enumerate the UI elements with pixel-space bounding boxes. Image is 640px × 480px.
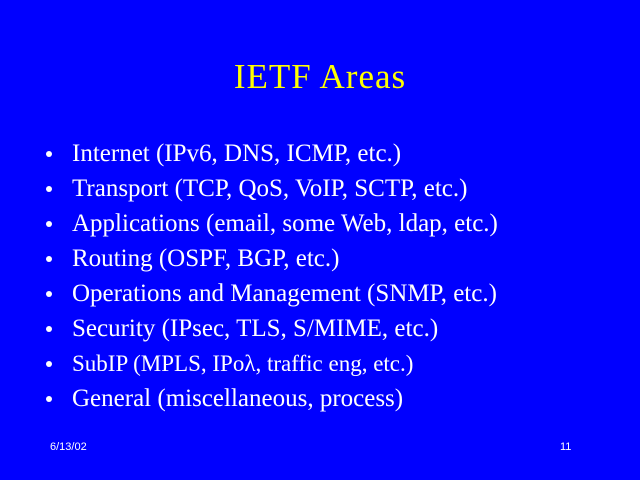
bullet-dot-icon [46,396,52,402]
list-item: Security (IPsec, TLS, S/MIME, etc.) [40,311,620,346]
slide: IETF Areas Internet (IPv6, DNS, ICMP, et… [0,0,640,480]
bullet-dot-icon [46,186,52,192]
bullet-dot-icon [46,291,52,297]
list-item: Applications (email, some Web, ldap, etc… [40,206,620,241]
bullet-list: Internet (IPv6, DNS, ICMP, etc.) Transpo… [40,136,620,416]
list-item: Routing (OSPF, BGP, etc.) [40,241,620,276]
list-item-label: Internet (IPv6, DNS, ICMP, etc.) [72,136,401,171]
bullet-dot-icon [46,256,52,262]
bullet-dot-icon [46,326,52,332]
list-item-label: General (miscellaneous, process) [72,381,403,416]
footer-date: 6/13/02 [50,440,87,454]
list-item-label: Routing (OSPF, BGP, etc.) [72,241,339,276]
list-item-label: SubIP (MPLS, IPoλ, traffic eng, etc.) [72,346,413,381]
list-item: General (miscellaneous, process) [40,381,620,416]
list-item: Internet (IPv6, DNS, ICMP, etc.) [40,136,620,171]
list-item-label: Transport (TCP, QoS, VoIP, SCTP, etc.) [72,171,467,206]
bullet-dot-icon [46,361,52,367]
list-item: SubIP (MPLS, IPoλ, traffic eng, etc.) [40,346,620,381]
list-item-label: Operations and Management (SNMP, etc.) [72,276,497,311]
list-item-label: Applications (email, some Web, ldap, etc… [72,206,498,241]
footer-page-number: 11 [560,440,600,454]
page-title: IETF Areas [0,57,640,97]
list-item: Transport (TCP, QoS, VoIP, SCTP, etc.) [40,171,620,206]
list-item-label: Security (IPsec, TLS, S/MIME, etc.) [72,311,438,346]
bullet-dot-icon [46,151,52,157]
bullet-dot-icon [46,221,52,227]
list-item: Operations and Management (SNMP, etc.) [40,276,620,311]
